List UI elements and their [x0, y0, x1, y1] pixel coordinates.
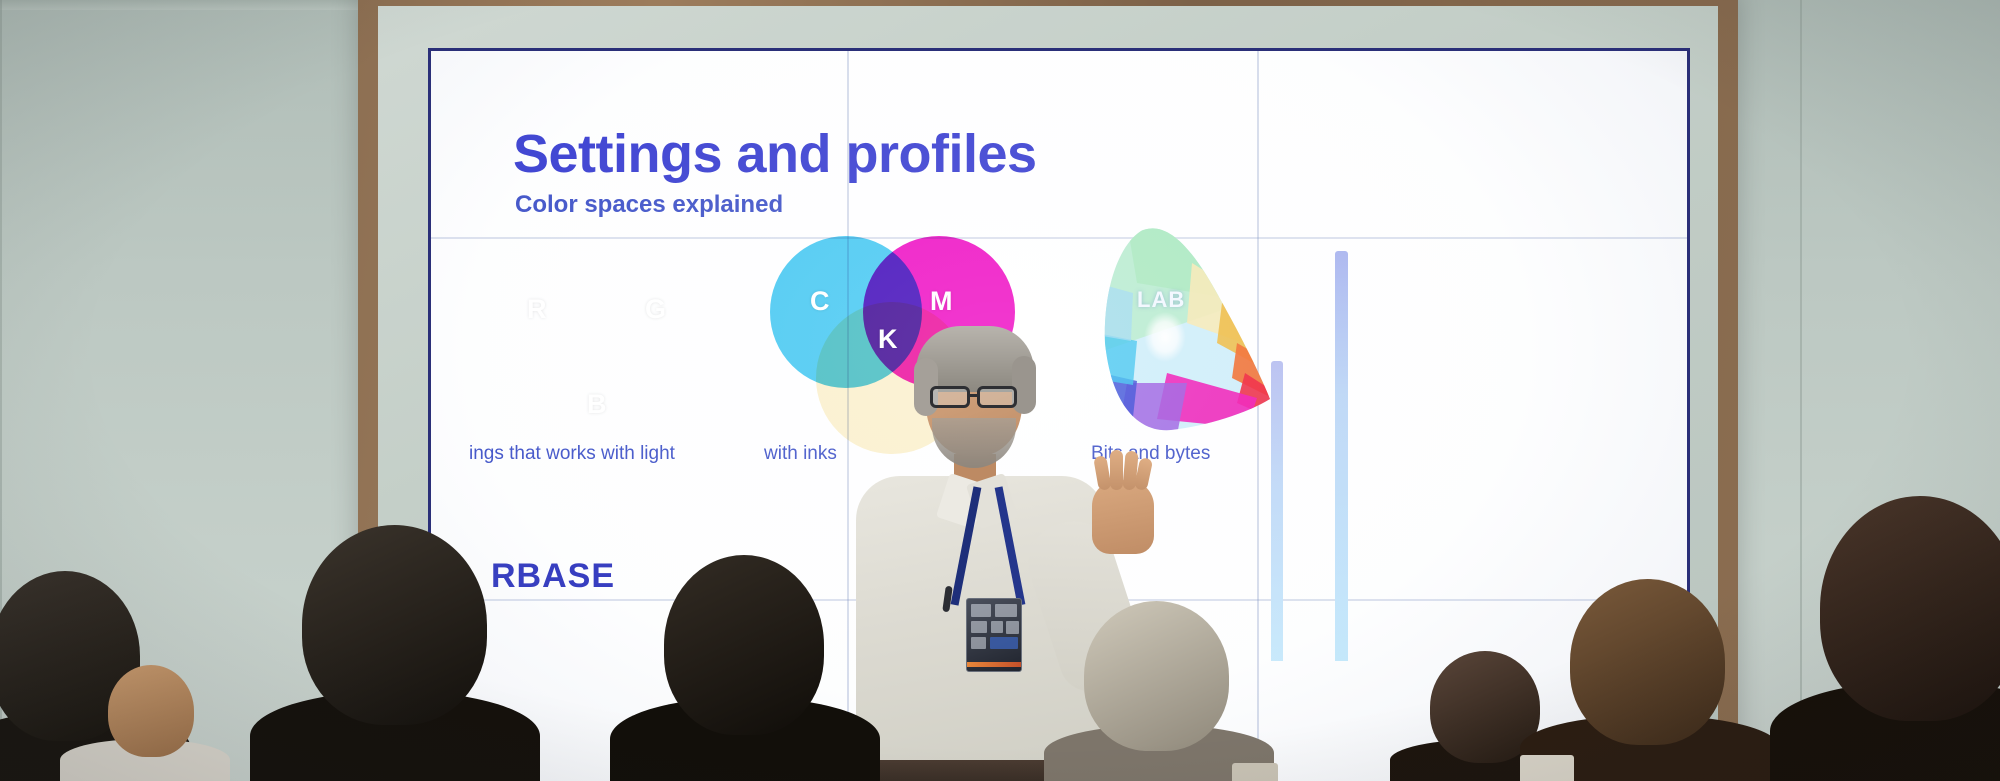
lab-gamut-label: LAB [1137, 287, 1185, 313]
rgb-label-r: R [527, 294, 547, 325]
audience-head [302, 525, 487, 725]
desk-object [1520, 755, 1574, 781]
audience-member [1790, 481, 2000, 781]
badge-logo-7 [990, 637, 1018, 649]
bit-depth-bar-large [1335, 251, 1348, 661]
cmyk-label-c: C [810, 286, 830, 317]
presenter-glasses-right-lens [977, 386, 1017, 408]
slide-title: Settings and profiles [513, 123, 1037, 185]
audience-member [1050, 611, 1260, 781]
audience-member [620, 531, 860, 781]
rgb-label-b: B [587, 389, 607, 420]
audience-head [108, 665, 194, 757]
cmyk-label-m: M [930, 286, 953, 317]
presenter-conference-badge [966, 598, 1022, 672]
audience-head [1084, 601, 1229, 751]
bit-depth-bar-small [1271, 361, 1283, 661]
audience-member [1530, 581, 1760, 781]
videowall-seam-horizontal-1 [431, 237, 1687, 239]
badge-logo-5 [1006, 621, 1019, 634]
badge-logo-6 [971, 637, 986, 649]
presenter-hand [1092, 480, 1154, 554]
badge-logo-2 [995, 604, 1017, 617]
audience-head [1820, 496, 2000, 721]
finger-2 [1110, 450, 1123, 490]
audience-member [250, 511, 530, 781]
badge-logo-4 [991, 621, 1003, 633]
conference-room-background: Settings and profiles Color spaces expla… [0, 0, 2000, 781]
slide-subtitle: Color spaces explained [515, 191, 783, 219]
caption-rgb: ings that works with light [469, 443, 675, 465]
badge-logo-1 [971, 604, 991, 617]
presenter-glasses-left-lens [930, 386, 970, 408]
audience-member [60, 671, 220, 781]
audience-head [1570, 579, 1725, 745]
cmyk-label-k: K [878, 324, 898, 355]
badge-logo-3 [971, 621, 987, 633]
badge-accent-bar [967, 662, 1021, 667]
audience-head [664, 555, 824, 735]
rgb-label-g: G [645, 294, 666, 325]
desk-object [1232, 763, 1278, 781]
presenter-glasses-bridge [968, 394, 980, 397]
presenter-beard [932, 418, 1016, 468]
rgb-circle-blue [532, 309, 682, 459]
rgb-venn-diagram: R G B [487, 241, 727, 456]
